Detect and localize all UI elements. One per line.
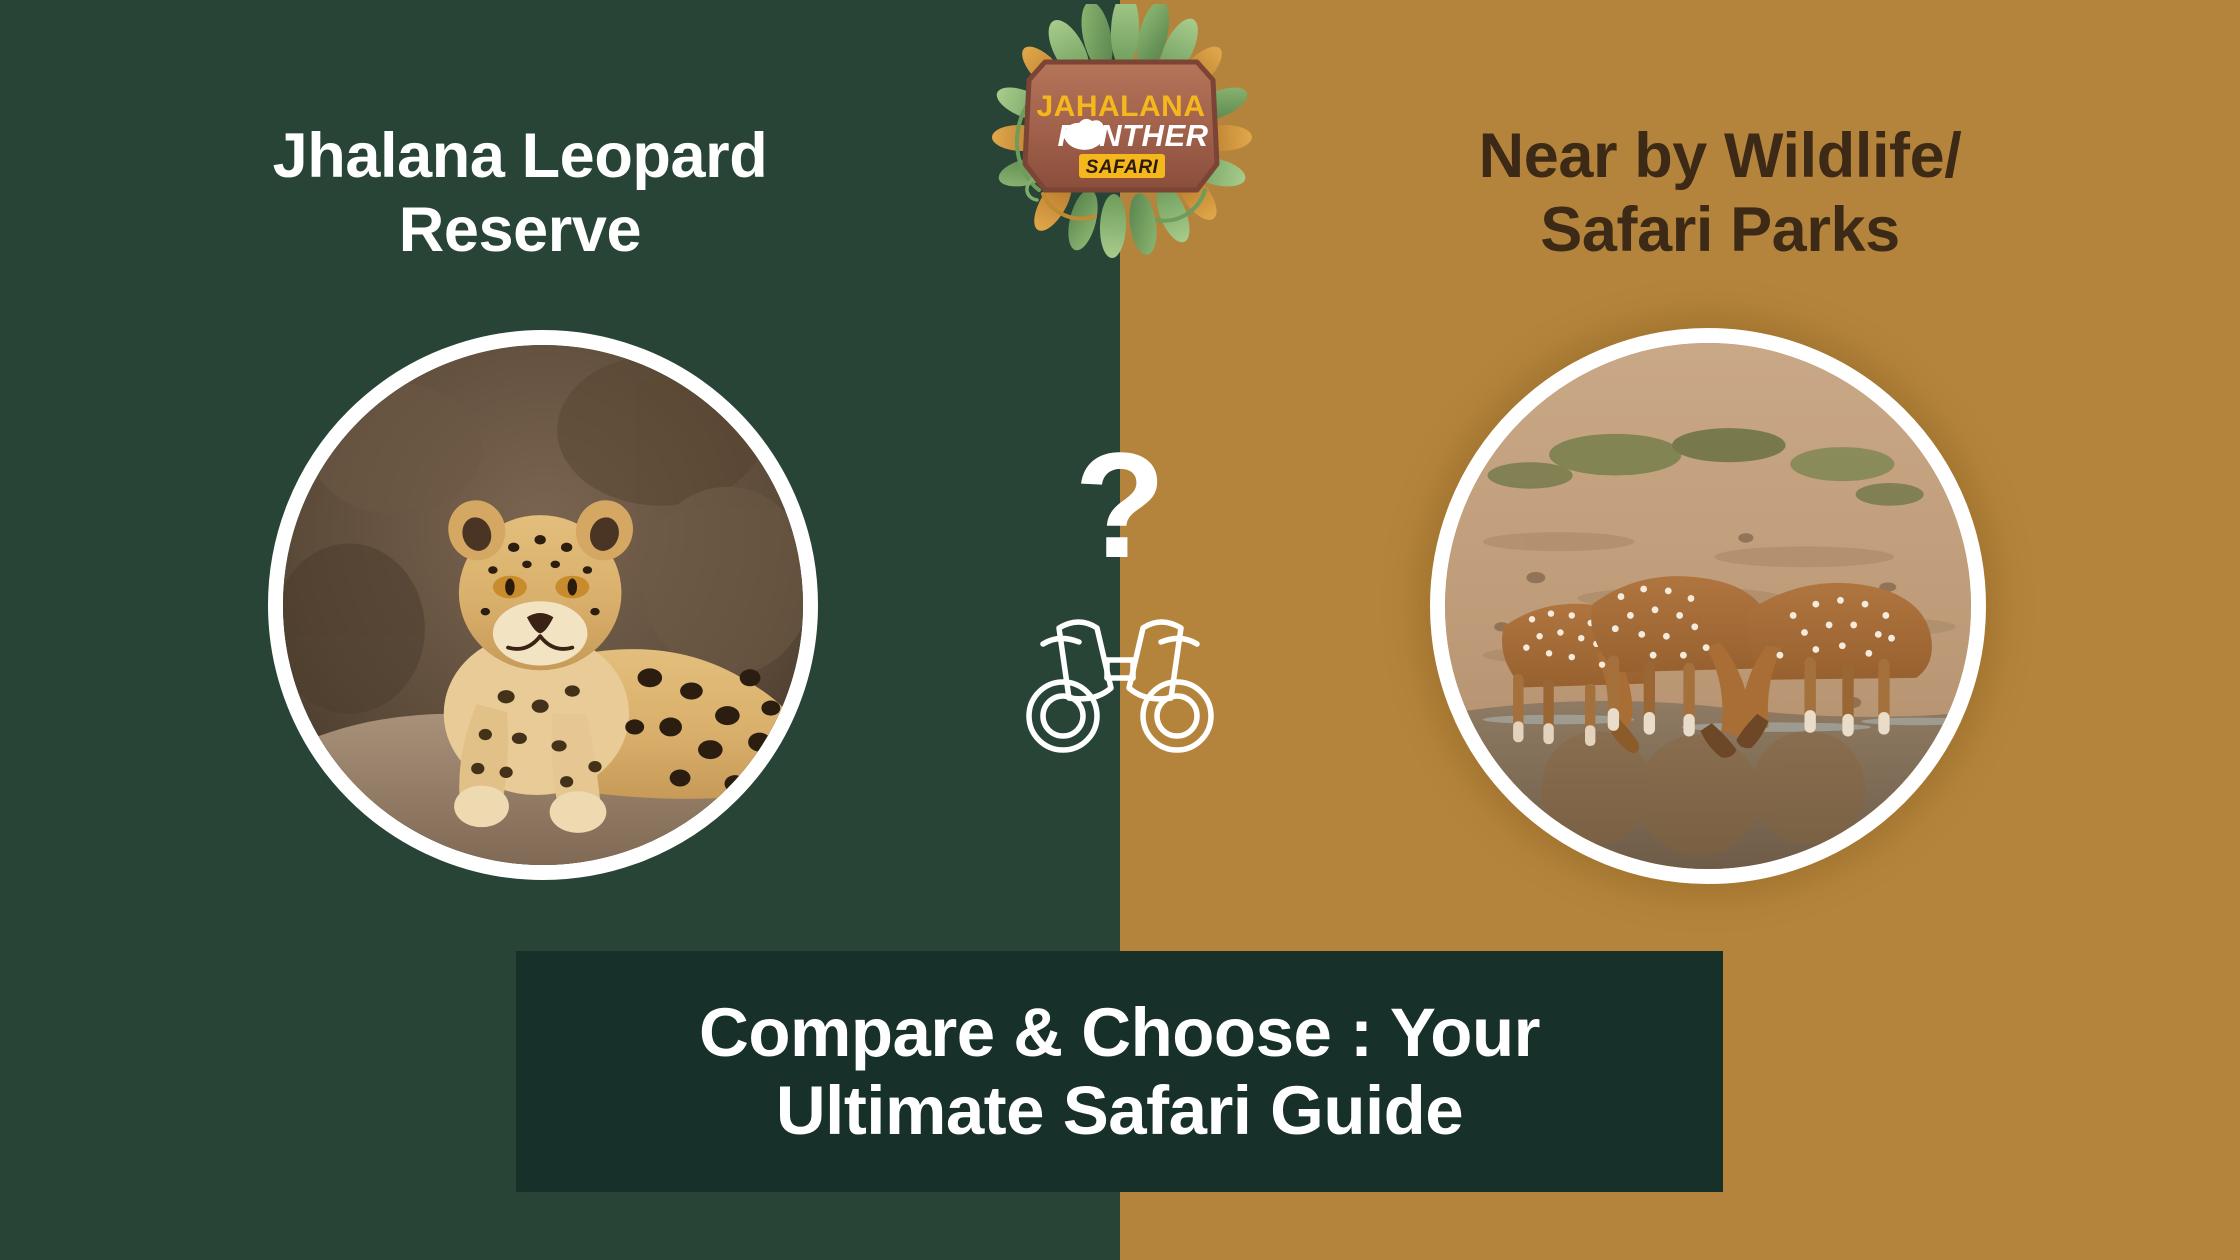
logo-line-2: PANTHER — [1057, 118, 1208, 153]
deer-photo — [1430, 328, 1986, 884]
binoculars-icon — [1015, 600, 1225, 760]
jahalana-panther-safari-logo[interactable]: JAHALANA PANTHER SAFARI — [985, 4, 1257, 262]
right-panel-title: Near by Wildlife/ Safari Parks — [1330, 120, 2110, 267]
logo-line-3: SAFARI — [1086, 157, 1159, 178]
banner: Compare & Choose : Your Ultimate Safari … — [516, 951, 1723, 1192]
leopard-photo — [268, 330, 818, 880]
left-panel-title: Jhalana Leopard Reserve — [130, 120, 910, 267]
question-mark-icon: ? — [1040, 425, 1200, 585]
poster-canvas: Jhalana Leopard Reserve Near by Wildlife… — [0, 0, 2240, 1260]
banner-title: Compare & Choose : Your Ultimate Safari … — [699, 994, 1540, 1150]
